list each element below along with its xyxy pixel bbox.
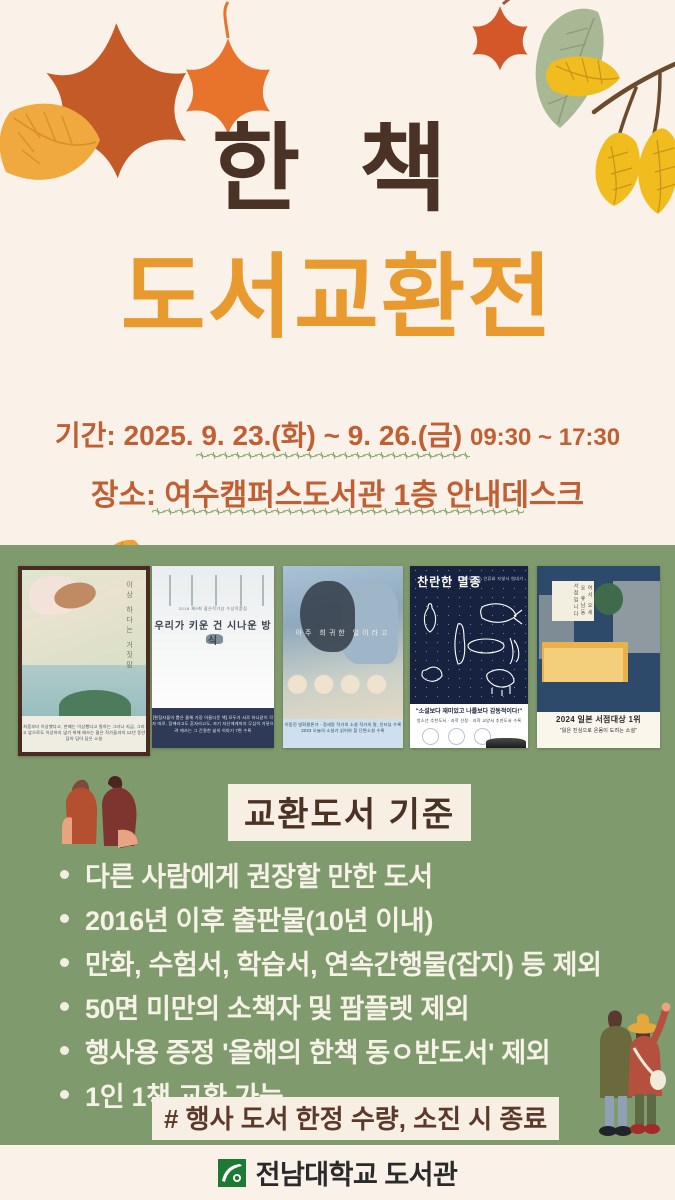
criteria-list: 다른 사람에게 권장할 만한 도서 2016년 이후 출판물(10년 이내) 만…	[60, 855, 620, 1119]
list-item: 2016년 이후 출판물(10년 이내)	[60, 899, 620, 937]
date-label: 기간:	[55, 420, 116, 451]
bullet-dot-icon	[60, 914, 69, 923]
book-cover-5: 여서 오세요 휴남동 서점입니다 2024 일본 서점대상 1위 "잃은 진심으…	[537, 566, 660, 748]
book-cover-2: 2018 제9회 젊은작가상 수상작품집 우리가 키운 건 시나운 방식 [편집…	[152, 566, 274, 748]
university-logo-icon	[218, 1159, 246, 1187]
people-pair-icon	[58, 770, 150, 862]
event-date-line: 기간: 2025. 9. 23.(화) ~ 9. 26.(금) 09:30 ~ …	[0, 414, 675, 454]
bullet-dot-icon	[60, 870, 69, 879]
footer-organization: 전남대학교 도서관	[256, 1153, 458, 1192]
book3-band-text: 이동진 영화평론가 · 정세랑 작가의 소설 작가의 말, 인터뷰 수록 202…	[283, 722, 403, 735]
bullet-dot-icon	[60, 1002, 69, 1011]
book5-award: 2024 일본 서점대상 1위	[537, 714, 660, 725]
poster-root: 한 책 도서교환전 기간: 2025. 9. 23.(화) ~ 9. 26.(금…	[0, 0, 675, 1200]
book3-shape-c	[283, 670, 403, 694]
couple-icon	[592, 1000, 672, 1145]
poster-header: 한 책 도서교환전 기간: 2025. 9. 23.(화) ~ 9. 26.(금…	[0, 0, 675, 545]
book3-photo	[283, 566, 403, 719]
footer-bar: 전남대학교 도서관	[0, 1145, 675, 1200]
book4-subtitle: 거꾸로 쓰는 인류와 자연사 연대기	[460, 576, 523, 582]
book5-title-card: 여서 오세요 휴남동 서점입니다	[552, 581, 594, 622]
book1-bottom-band: 처음부터 이상했다고, 한때는 이상했다고 말하는 그러나 지금, 그리고 앞으…	[22, 716, 146, 752]
book1-title: 이상 하다는 거짓말	[124, 581, 134, 671]
wavy-underline-date	[196, 452, 470, 459]
criteria-text: 다른 사람에게 권장할 만한 도서	[85, 855, 433, 894]
book3-shape-b	[300, 581, 355, 651]
criteria-text: 행사용 증정 '올해의 한책 동ㅇ반도서' 제외	[85, 1031, 550, 1070]
bullet-dot-icon	[60, 958, 69, 967]
criteria-text: 50면 미만의 소책자 및 팜플렛 제외	[85, 987, 469, 1026]
bullet-dot-icon	[60, 1090, 69, 1099]
book3-title: 아주 희귀한 일이라고	[283, 628, 403, 638]
book4-bottom-band: "소설보다 재미있고 나를보다 감동적이다!" 청소년 추천도서 · 과학 선정…	[410, 704, 528, 748]
page-title-line1: 한 책	[0, 122, 675, 218]
book3-bottom-band: 이동진 영화평론가 · 정세랑 작가의 소설 작가의 말, 인터뷰 수록 202…	[283, 719, 403, 748]
book-cover-4: 찬란한 멸종 거꾸로 쓰는 인류와 자연사 연대기 "소설보다 재미있고 나를보…	[410, 566, 528, 748]
list-item: 만화, 수험서, 학습서, 연속간행물(잡지) 등 제외	[60, 943, 620, 981]
book4-band-text: 청소년 추천도서 · 과학 선정 · 과학 교양서 추천도서 수록	[410, 718, 528, 724]
criteria-text: 2016년 이후 출판물(10년 이내)	[85, 899, 433, 938]
place-label: 장소:	[91, 479, 156, 512]
book5-title: 여서 오세요 휴남동 서점입니다	[552, 582, 594, 620]
book2-bottom-band: [편집자들이 뽑은 올해 가장 아름다운 책] 모두가 서로 하나같이 각자 따…	[152, 708, 274, 748]
book-cover-row: 이상 하다는 거짓말 처음부터 이상했다고, 한때는 이상했다고 말하는 그러나…	[0, 566, 675, 751]
book1-blurb: 처음부터 이상했다고, 한때는 이상했다고 말하는 그러나 지금, 그리고 앞으…	[22, 724, 146, 743]
wavy-underline-place	[152, 508, 524, 515]
book5-bottom-band: 2024 일본 서점대상 1위 "잃은 진심으로 온몸이 도려는 소설"	[537, 712, 660, 748]
criteria-text: 만화, 수험서, 학습서, 연속간행물(잡지) 등 제외	[85, 943, 602, 982]
book2-band-text: [편집자들이 뽑은 올해 가장 아름다운 책] 모두가 서로 하나같이 각자 따…	[152, 715, 274, 734]
book4-portrait	[486, 738, 526, 748]
list-item: 다른 사람에게 권장할 만한 도서	[60, 855, 620, 893]
book5-shop-window	[544, 648, 623, 683]
book5-tagline: "잃은 진심으로 온몸이 도려는 소설"	[537, 728, 660, 736]
time-range: 09:30 ~ 17:30	[470, 424, 620, 451]
date-range: 2025. 9. 23.(화) ~ 9. 26.(금)	[124, 420, 463, 451]
book5-illustration: 여서 오세요 휴남동 서점입니다	[537, 566, 660, 712]
bullet-dot-icon	[60, 1046, 69, 1055]
book2-series: 2018 제9회 젊은작가상 수상작품집	[152, 606, 274, 612]
criteria-note: # 행사 도서 한정 수량, 소진 시 종료	[152, 1097, 559, 1140]
list-item: 행사용 증정 '올해의 한책 동ㅇ반도서' 제외	[60, 1031, 620, 1069]
criteria-heading: 교환도서 기준	[228, 784, 471, 841]
book-cover-3: 아주 희귀한 일이라고 이동진 영화평론가 · 정세랑 작가의 소설 작가의 말…	[283, 566, 403, 748]
list-item: 50면 미만의 소책자 및 팜플렛 제외	[60, 987, 620, 1025]
book2-title: 우리가 키운 건 시나운 방식	[152, 617, 274, 647]
book4-night-sky: 찬란한 멸종 거꾸로 쓰는 인류와 자연사 연대기	[410, 566, 528, 704]
book-cover-1: 이상 하다는 거짓말 처음부터 이상했다고, 한때는 이상했다고 말하는 그러나…	[18, 566, 150, 756]
page-title-line2: 도서교환전	[0, 252, 675, 344]
book4-quote: "소설보다 재미있고 나를보다 감동적이다!"	[410, 706, 528, 715]
